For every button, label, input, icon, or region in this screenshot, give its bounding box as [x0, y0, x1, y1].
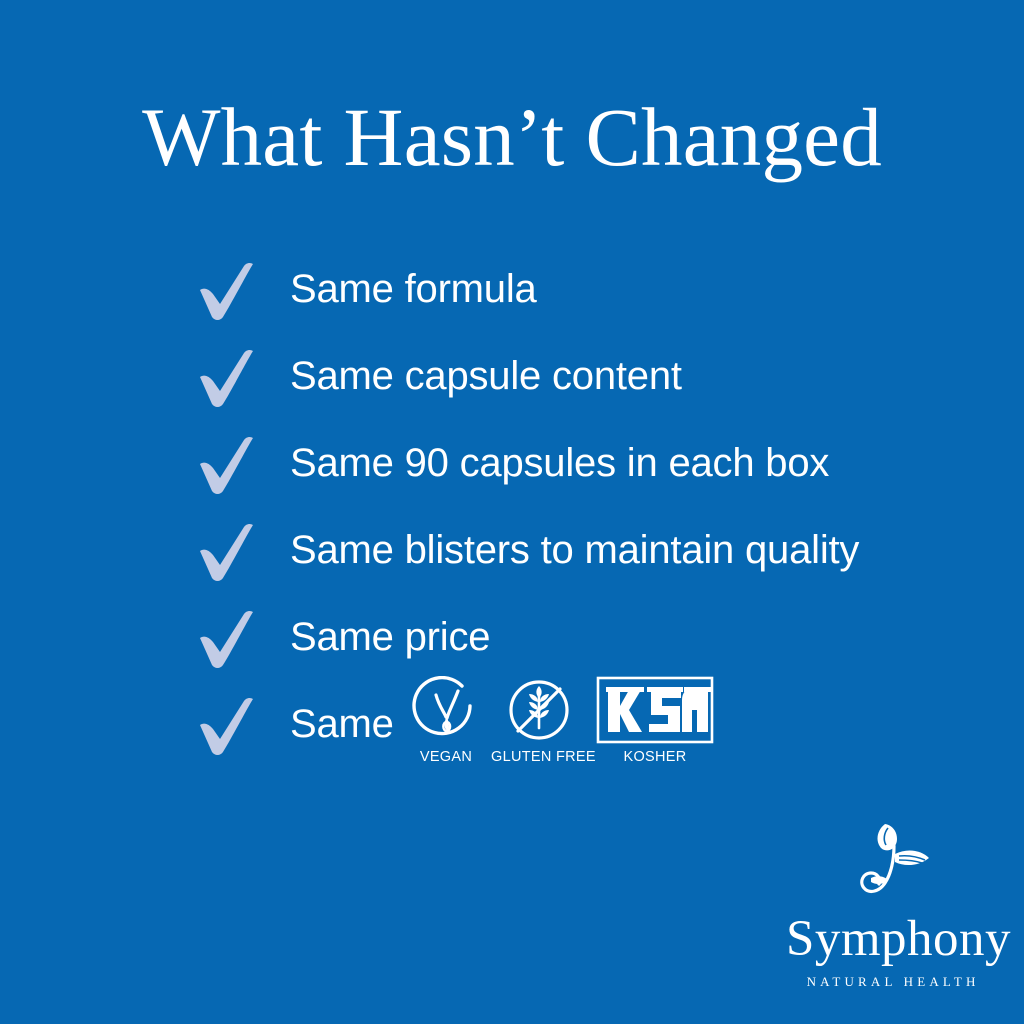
promo-graphic: What Hasn’t Changed Same formula Same ca…: [0, 0, 1024, 1024]
vegan-badge-label: VEGAN: [405, 749, 487, 765]
logo-wordmark: Symphony: [786, 914, 996, 965]
vegan-badge: VEGAN: [405, 676, 487, 765]
kosher-ksa-badge-icon: [595, 676, 715, 744]
certification-badges: VEGAN G: [405, 676, 715, 776]
leaf-swirl-icon: [786, 812, 996, 912]
page-title: What Hasn’t Changed: [0, 96, 1024, 179]
checkmark-icon: [196, 434, 258, 496]
gluten-free-badge: GLUTEN FREE: [491, 676, 587, 765]
list-item-label: Same formula: [290, 258, 537, 320]
checkmark-icon: [196, 347, 258, 409]
list-item-label: Same: [290, 693, 394, 755]
list-item-label: Same 90 capsules in each box: [290, 432, 829, 494]
kosher-badge-label: KOSHER: [595, 749, 715, 765]
checkmark-icon: [196, 521, 258, 583]
vegan-badge-icon: [405, 676, 487, 744]
checkmark-icon: [196, 260, 258, 322]
list-item-label: Same blisters to maintain quality: [290, 519, 859, 581]
logo-tagline: NATURAL HEALTH: [786, 974, 996, 990]
list-item-label: Same capsule content: [290, 345, 682, 407]
gluten-free-badge-icon: [491, 676, 587, 744]
kosher-badge: KOSHER: [595, 676, 715, 765]
list-item-label: Same price: [290, 606, 490, 668]
list-item: Same formula: [196, 258, 1016, 345]
checkmark-icon: [196, 608, 258, 670]
gluten-free-badge-label: GLUTEN FREE: [491, 749, 587, 765]
checkmark-icon: [196, 695, 258, 757]
brand-logo: Symphony NATURAL HEALTH: [786, 812, 996, 990]
list-item: Same capsule content: [196, 345, 1016, 432]
list-item: Same 90 capsules in each box: [196, 432, 1016, 519]
list-item: Same blisters to maintain quality: [196, 519, 1016, 606]
